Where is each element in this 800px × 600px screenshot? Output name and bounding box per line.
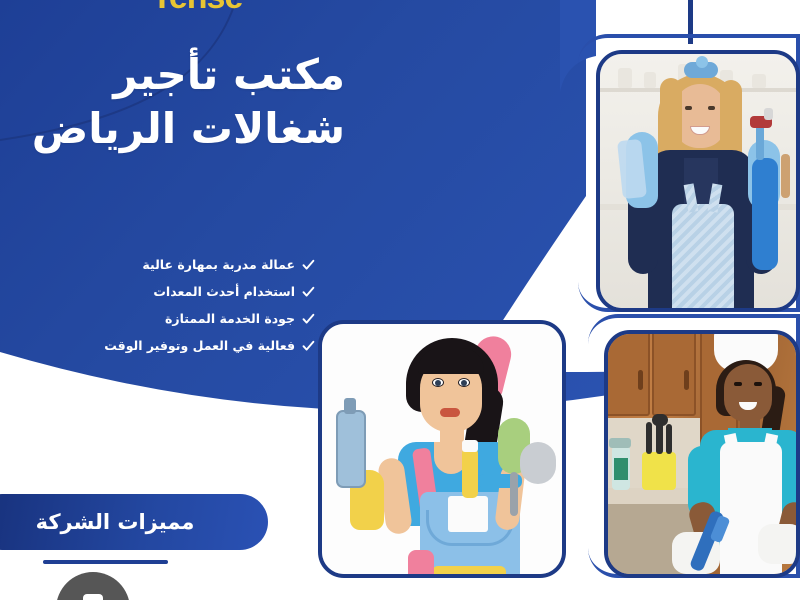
list-item: فعالية في العمل وتوفير الوقت xyxy=(75,333,315,360)
list-item-label: جودة الخدمة الممتازة xyxy=(165,313,295,326)
advertisement-poster: Tense مكتب تأجير شغالات الرياض عمالة مدر… xyxy=(0,0,800,600)
photo-card-uniform-cleaner xyxy=(604,330,800,578)
avatar-inner-shape xyxy=(83,594,103,600)
headline-line-2: شغالات الرياض xyxy=(45,102,345,156)
page-title: مكتب تأجير شغالات الرياض xyxy=(45,48,345,156)
check-icon xyxy=(302,313,315,326)
list-item: عمالة مدربة بمهارة عالية xyxy=(75,252,315,279)
section-banner-label: مميزات الشركة xyxy=(36,510,207,534)
list-item-label: استخدام أحدث المعدات xyxy=(153,286,295,299)
check-icon xyxy=(302,286,315,299)
photo-card-cartoon-maid xyxy=(318,320,566,578)
list-item-label: عمالة مدربة بمهارة عالية xyxy=(142,259,295,272)
divider xyxy=(43,560,168,564)
check-icon xyxy=(302,259,315,272)
brand-logo: Tense xyxy=(122,0,272,16)
photo-illustration xyxy=(600,54,796,308)
photo-illustration xyxy=(322,324,562,574)
list-item: استخدام أحدث المعدات xyxy=(75,279,315,306)
feature-list: عمالة مدربة بمهارة عالية استخدام أحدث ال… xyxy=(75,252,315,360)
photo-card-blonde-cleaner xyxy=(596,50,800,312)
section-banner-pill: مميزات الشركة xyxy=(0,494,268,550)
photo-illustration xyxy=(608,334,796,574)
check-icon xyxy=(302,340,315,353)
list-item-label: فعالية في العمل وتوفير الوقت xyxy=(104,340,295,353)
headline-line-1: مكتب تأجير xyxy=(45,48,345,102)
list-item: جودة الخدمة الممتازة xyxy=(75,306,315,333)
brand-logo-text: Tense xyxy=(122,0,272,14)
